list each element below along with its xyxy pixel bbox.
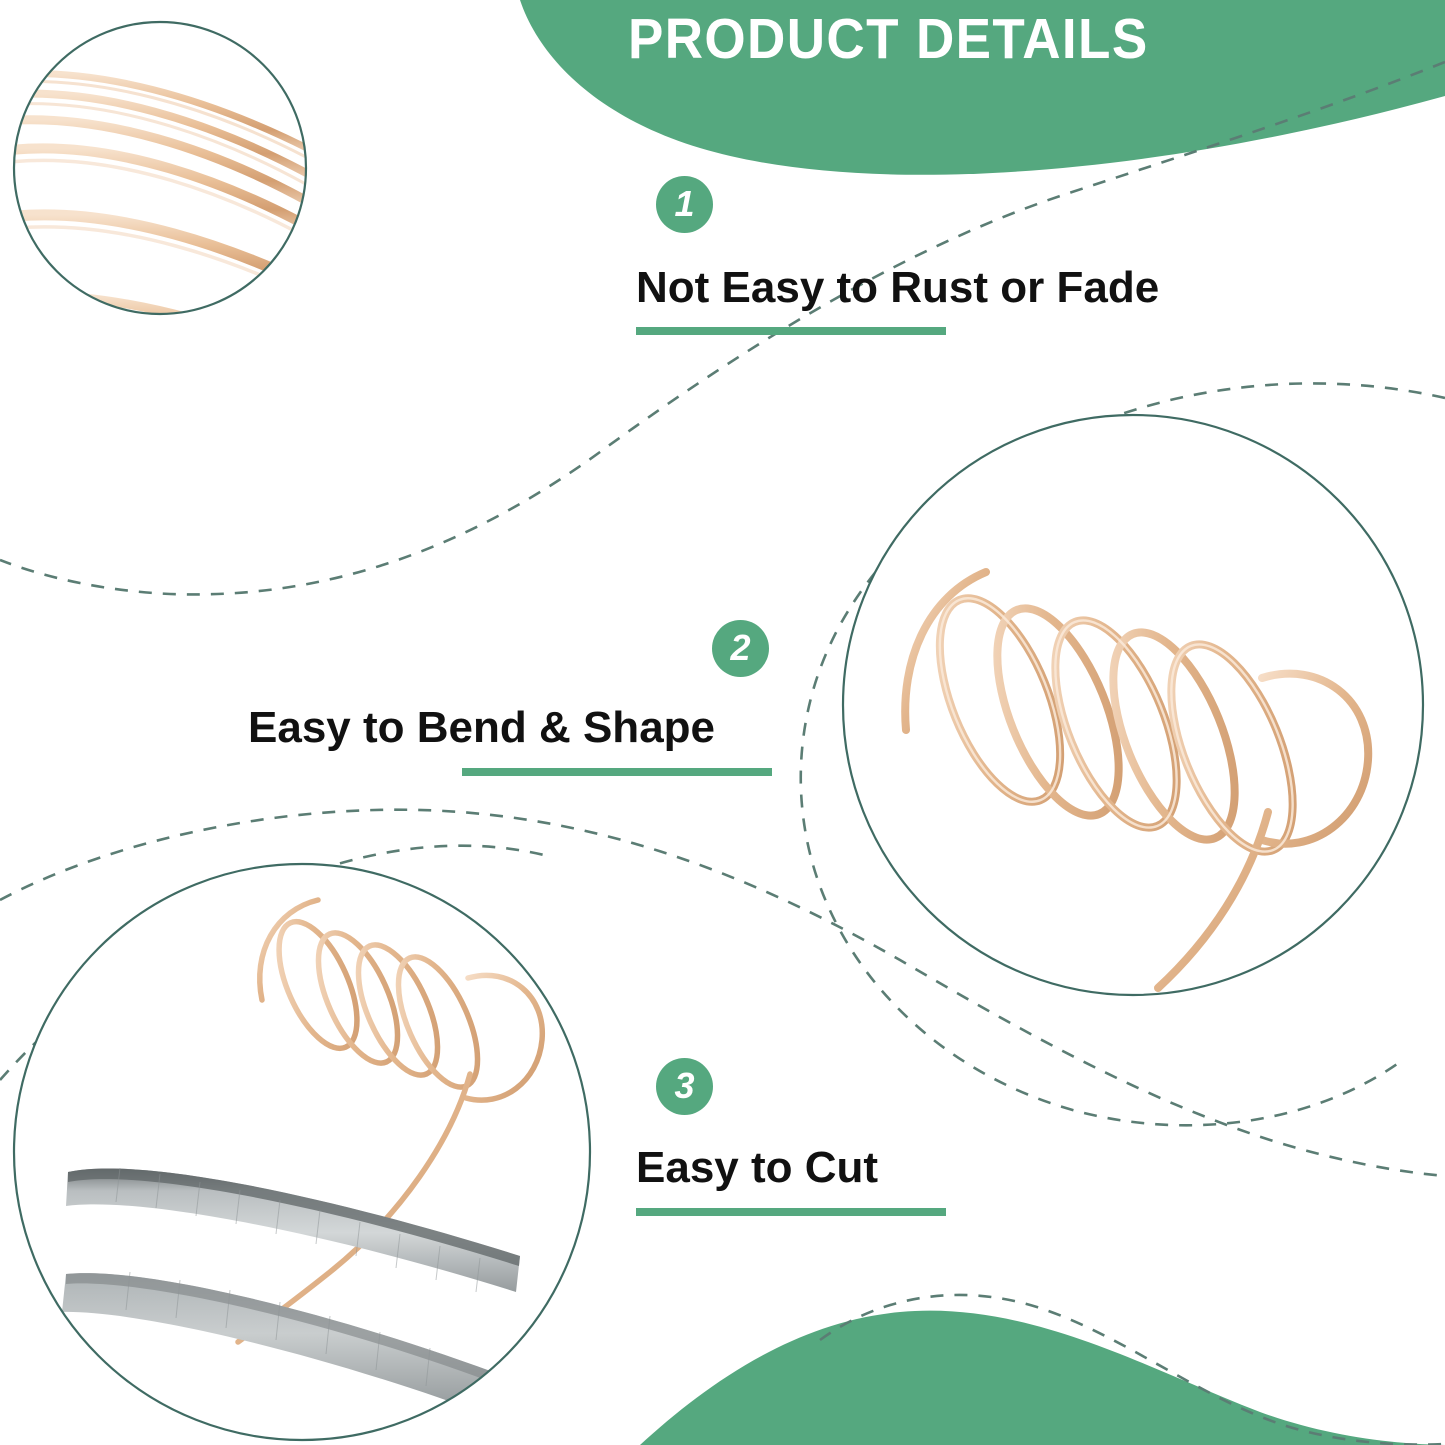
product-details-infographic: PRODUCT DETAILS 1 Not Easy to Rust or Fa… <box>0 0 1445 1445</box>
photo-scissors-cutting <box>10 860 600 1445</box>
photo-wire-strands <box>0 0 340 372</box>
photo-coil-spring <box>840 410 1430 1000</box>
wire-strands-image <box>0 0 340 372</box>
product-photos <box>0 0 1445 1445</box>
